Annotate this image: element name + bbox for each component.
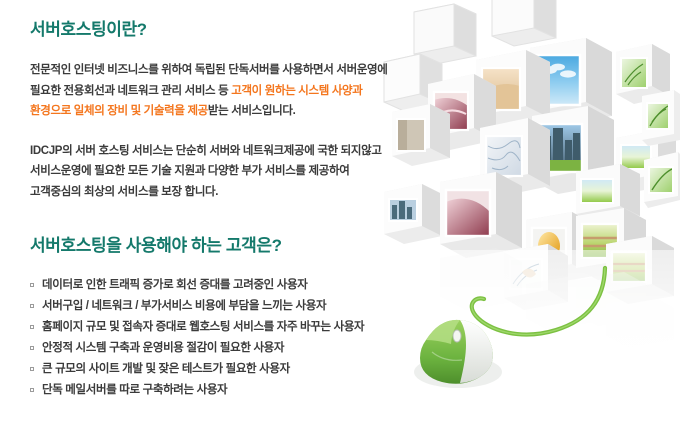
square-bullet-icon — [30, 346, 34, 350]
list-item: 큰 규모의 사이트 개발 및 잦은 테스트가 필요한 사용자 — [30, 359, 450, 380]
highlighted-text: 고객이 원하는 시스템 사양과 — [231, 85, 362, 97]
page-title-who-should-use: 서버호스팅을 사용해야 하는 고객은? — [30, 236, 450, 256]
target-customer-list: 데이터로 인한 트래픽 증가로 회선 증대를 고려중인 사용자 서버구입 / 네… — [30, 275, 450, 401]
square-bullet-icon — [30, 388, 34, 392]
intro-paragraph-2: IDCJP의 서버 호스팅 서비스는 단순히 서버와 네트워크제공에 국한 되지… — [30, 141, 450, 203]
page-root: 서버호스팅이란? 전문적인 인터넷 비즈니스를 위하여 독립된 단독서버를 사용… — [0, 0, 680, 425]
paragraph-line: 필요한 전용회선과 네트워크 관리 서비스 등 — [30, 85, 231, 97]
square-bullet-icon — [30, 325, 34, 329]
paragraph-line: 고객중심의 최상의 서비스를 보장 합니다. — [30, 186, 218, 198]
page-title-what-is-server-hosting: 서버호스팅이란? — [30, 20, 450, 40]
paragraph-line: 서비스운영에 필요한 모든 기술 지원과 다양한 부가 서비스를 제공하여 — [30, 165, 349, 177]
list-item: 데이터로 인한 트래픽 증가로 회선 증대를 고려중인 사용자 — [30, 275, 450, 296]
list-item-label: 안정적 시스템 구축과 운영비용 절감이 필요한 사용자 — [42, 342, 284, 354]
list-item-label: 큰 규모의 사이트 개발 및 잦은 테스트가 필요한 사용자 — [42, 363, 290, 375]
square-bullet-icon — [30, 367, 34, 371]
list-item: 단독 메일서버를 따로 구축하려는 사용자 — [30, 380, 450, 401]
list-item: 안정적 시스템 구축과 운영비용 절감이 필요한 사용자 — [30, 338, 450, 359]
paragraph-line: 받는 서비스입니다. — [208, 105, 296, 117]
highlighted-text: 환경으로 일체의 장비 및 기술력을 제공 — [30, 105, 208, 117]
paragraph-line: IDCJP의 서버 호스팅 서비스는 단순히 서버와 네트워크제공에 국한 되지… — [30, 145, 382, 157]
square-bullet-icon — [30, 304, 34, 308]
list-item-label: 단독 메일서버를 따로 구축하려는 사용자 — [42, 384, 227, 396]
text-content: 서버호스팅이란? 전문적인 인터넷 비즈니스를 위하여 독립된 단독서버를 사용… — [30, 0, 450, 401]
list-item-label: 서버구입 / 네트워크 / 부가서비스 비용에 부담을 느끼는 사용자 — [42, 300, 326, 312]
paragraph-line: 전문적인 인터넷 비즈니스를 위하여 독립된 단독서버를 사용하면서 서버운영에 — [30, 64, 388, 76]
intro-paragraph-1: 전문적인 인터넷 비즈니스를 위하여 독립된 단독서버를 사용하면서 서버운영에… — [30, 60, 450, 122]
list-item-label: 데이터로 인한 트래픽 증가로 회선 증대를 고려중인 사용자 — [42, 279, 307, 291]
list-item-label: 홈페이지 규모 및 접속자 증대로 웹호스팅 서비스를 자주 바꾸는 사용자 — [42, 321, 364, 333]
list-item: 홈페이지 규모 및 접속자 증대로 웹호스팅 서비스를 자주 바꾸는 사용자 — [30, 317, 450, 338]
square-bullet-icon — [30, 283, 34, 287]
list-item: 서버구입 / 네트워크 / 부가서비스 비용에 부담을 느끼는 사용자 — [30, 296, 450, 317]
